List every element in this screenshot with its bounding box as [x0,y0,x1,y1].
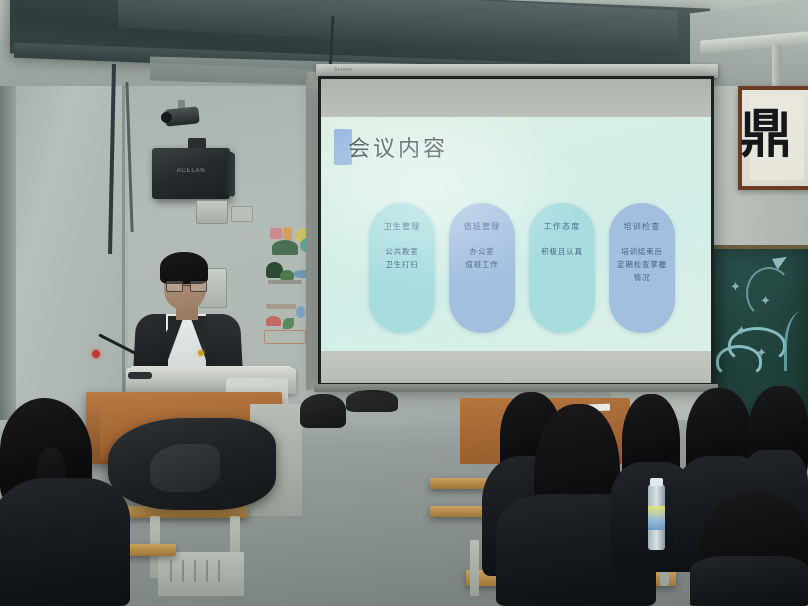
chalk-star-icon: ✦ [730,279,741,295]
student-body-front-left [0,478,130,606]
microphone-icon [92,350,100,358]
glasses-icon [166,281,206,290]
pill-2-heading: 值班管理 [449,221,515,232]
sticker-text-line-2 [266,304,296,309]
pill-4-line-3: 情况 [609,271,675,284]
classroom-scene: ACELAN 鼎 ✦ ✦ ✦ ✦ [0,0,808,606]
screen-top-band [321,79,711,117]
speaker-side [225,151,235,197]
bottle-label [648,506,665,530]
bottle-cap [650,478,663,486]
pill-2-body: 办公室 值班工作 [449,245,515,271]
pill-1-heading: 卫生管理 [369,221,435,232]
junction-box [196,200,228,224]
speaker-brand-label: ACELAN [152,168,230,174]
presenter-hair [160,252,208,284]
desk-right-small [430,478,488,489]
chalk-wave [784,311,808,371]
sticker-orange [283,227,292,240]
screen-left-strip [306,72,318,390]
pill-4-line-2: 定期检查掌握 [609,258,675,271]
coat-fold [150,444,220,492]
sticker-blue-dot [296,306,305,318]
pill-1-line-2: 卫生打扫 [369,258,435,271]
pill-1-line-1: 公共教室 [369,245,435,258]
calligraphy-character: 鼎 [738,92,794,182]
sticker-red-cap [266,316,281,326]
pill-2-line-1: 办公室 [449,245,515,258]
wall-socket [231,206,253,222]
pill-4-body: 培训结束后 定期检查掌握 情况 [609,245,675,284]
screen-bottom-band [321,351,711,383]
pill-3-body: 积极且认真 [529,245,595,258]
slide-pill-2[interactable]: 值班管理 办公室 值班工作 [449,203,515,333]
slide-pill-group: 卫生管理 公共教室 卫生打扫 值班管理 办公室 值班工作 工作态度 [369,203,675,333]
lapel-pin-icon [198,350,204,356]
sticker-text-line [268,280,302,284]
chalk-star-icon-2: ✦ [760,293,771,309]
pill-1-body: 公共教室 卫生打扫 [369,245,435,271]
sticker-green-hill [272,240,298,255]
glasses-lens-left [166,281,183,292]
student-hair-back-center [300,394,346,428]
desk-leg-right [470,540,479,596]
sticker-leaf [283,318,294,329]
sticker-green-small [280,270,294,280]
sticker-pink [270,228,282,239]
desk-right-small-2 [430,506,488,517]
glasses-lens-right [190,281,207,292]
wall-seam [122,62,125,422]
pill-4-line-1: 培训结束后 [609,245,675,258]
screen-housing-label: Screen [334,67,353,73]
sticker-frame-line [264,330,306,344]
pill-3-line-1: 积极且认真 [529,245,595,258]
slide-pill-1[interactable]: 卫生管理 公共教室 卫生打扫 [369,203,435,333]
pill-2-line-2: 值班工作 [449,258,515,271]
slide-pill-4[interactable]: 培训检查 培训结束后 定期检查掌握 情况 [609,203,675,333]
projection-screen: 会议内容 卫生管理 公共教室 卫生打扫 值班管理 办公室 值班工作 [321,79,711,383]
microphone-base [128,372,152,379]
calligraphy-frame: 鼎 [738,86,808,190]
wall-speaker: ACELAN [152,148,230,199]
student-body-front-right [690,556,808,606]
student-hair-back-center-2 [346,390,398,412]
chalk-cloud-2 [716,345,762,377]
pill-3-heading: 工作态度 [529,221,595,232]
presentation-slide[interactable]: 会议内容 卫生管理 公共教室 卫生打扫 值班管理 办公室 值班工作 [321,117,711,351]
slide-title: 会议内容 [348,131,448,163]
glasses-bridge [182,285,190,286]
presenter-lapel-left [168,316,184,360]
pill-4-heading: 培训检查 [609,221,675,232]
slide-pill-3[interactable]: 工作态度 积极且认真 [529,203,595,333]
